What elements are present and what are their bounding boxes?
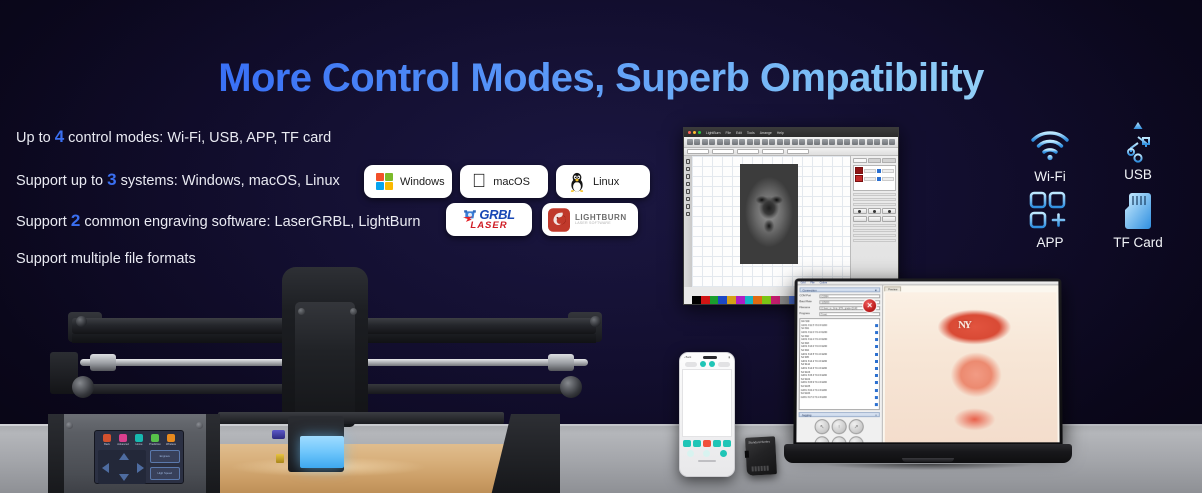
lightburn-toolbar[interactable]	[684, 137, 898, 148]
toolbar-paste-icon[interactable]	[747, 139, 753, 145]
menu-item-tools[interactable]: Tools	[747, 131, 755, 135]
touchscreen-buttons: Engrave High Speed	[150, 450, 180, 484]
phone-back-label[interactable]: ‹ Back	[684, 356, 691, 359]
bullet-text-post: common engraving software: LaserGRBL, Li…	[80, 214, 420, 230]
app-tab-home-icon[interactable]	[687, 450, 694, 457]
software-badge-lasergrbl[interactable]: GRBL LASER	[446, 203, 532, 236]
os-badge-label: Windows	[400, 176, 445, 188]
app-action-button[interactable]	[693, 440, 701, 447]
engraver-head-body	[295, 302, 355, 427]
grbl-logo-icon: GRBL LASER	[463, 209, 514, 230]
connectivity-label: Wi-Fi	[1010, 169, 1090, 184]
jog-down-right-button[interactable]: ↘	[849, 436, 864, 442]
toolbar-zoom-in-icon[interactable]	[762, 139, 768, 145]
touchscreen-controls: Engrave High Speed	[98, 450, 180, 484]
connectivity-usb: USB	[1098, 122, 1178, 182]
bullet-text-post: control modes: Wi-Fi, USB, APP, TF card	[64, 130, 331, 146]
app-action-button[interactable]	[723, 440, 731, 447]
engraver-head-screw	[350, 308, 357, 315]
app-tool-circle-icon[interactable]	[700, 361, 706, 367]
lightburn-canvas[interactable]	[692, 156, 850, 287]
jogging-title: Jogging	[802, 413, 812, 417]
dpad-right-arrow-icon[interactable]	[137, 463, 144, 473]
app-toolbar[interactable]	[682, 361, 732, 367]
toolbar-weld-icon[interactable]	[852, 139, 858, 145]
os-badge-linux[interactable]: Linux	[556, 165, 650, 198]
tf-card-icon	[1122, 191, 1154, 231]
touchscreen-icon-item[interactable]: Advanced	[116, 434, 130, 446]
lasergrbl-laptop: Grbl File Colors Connection ▼ COM Port C…	[784, 278, 1072, 493]
layer-color-swatch[interactable]	[855, 167, 863, 174]
toolbar-redo-icon[interactable]	[724, 139, 730, 145]
toolbar-align-center-icon[interactable]	[807, 139, 813, 145]
toolbar-zoom-out-icon[interactable]	[769, 139, 775, 145]
lightburn-cuts-layers-panel[interactable]	[850, 156, 898, 287]
touchscreen-icon-item[interactable]: Home	[132, 434, 146, 446]
touchscreen-icon-label: Prediction	[148, 443, 162, 446]
toolbar-image-icon[interactable]	[882, 139, 888, 145]
engraver-box-screw	[66, 422, 73, 429]
connection-panel-title: Connection	[803, 288, 817, 292]
jog-home-button[interactable]: ⌂	[832, 436, 847, 442]
lasergrbl-body: Connection ▼ COM Port COM4 Baud Rate 115…	[796, 285, 1059, 442]
frame-button[interactable]	[882, 216, 896, 222]
engraver-touchscreen[interactable]: Back Advanced Home Prediction Wireless	[94, 430, 184, 484]
connectivity-app: APP	[1010, 190, 1090, 250]
engraver-yellow-knob[interactable]	[276, 454, 284, 463]
engraver-head-screw	[298, 308, 305, 315]
touchscreen-icon-item[interactable]: Prediction	[148, 434, 162, 446]
laptop-screen[interactable]: Grbl File Colors Connection ▼ COM Port C…	[796, 281, 1059, 442]
preview-tab-bar[interactable]: Preview	[884, 286, 1057, 291]
toolbar-ungroup-icon[interactable]	[844, 139, 850, 145]
lightburn-body	[684, 156, 898, 287]
touchscreen-icon-label: Back	[100, 443, 114, 446]
toolbar-new-icon[interactable]	[687, 139, 693, 145]
engraver-control-box-side	[48, 414, 64, 493]
toolbar-settings-icon[interactable]	[889, 139, 895, 145]
promo-banner: More Control Modes, Superb Ompatibility …	[0, 0, 1202, 493]
os-badge-macos[interactable]:  macOS	[460, 165, 548, 198]
lightburn-sub: LASER SOFTWARE	[575, 222, 627, 226]
lightburn-coordinate-bar[interactable]	[684, 148, 898, 156]
tool-polygon-icon[interactable]	[686, 189, 691, 194]
width-field[interactable]	[687, 149, 709, 154]
lasergrbl-preview-panel[interactable]: Preview NY	[883, 285, 1060, 442]
os-badge-windows[interactable]: Windows	[364, 165, 452, 198]
layers-table[interactable]	[853, 165, 896, 191]
menu-item-lightburn[interactable]: LightBurn	[706, 131, 721, 135]
engraver-control-box-edge	[206, 414, 220, 493]
dpad-down-arrow-icon[interactable]	[119, 474, 129, 481]
tool-ellipse-icon[interactable]	[686, 182, 691, 187]
usb-icon	[1124, 121, 1152, 165]
toolbar-align-left-icon[interactable]	[799, 139, 805, 145]
upload-rd-file-button[interactable]	[868, 216, 882, 222]
toolbar-grid-icon[interactable]	[792, 139, 798, 145]
jogging-close-icon[interactable]: ×	[875, 413, 877, 417]
job-action-buttons[interactable]	[853, 208, 896, 214]
lightburn-menubar: LightBurn File Edit Tools Arrange Help	[684, 128, 898, 137]
app-canvas[interactable]	[682, 369, 732, 437]
toolbar-undo-icon[interactable]	[717, 139, 723, 145]
connectivity-label: USB	[1098, 167, 1178, 182]
touchscreen-icon-item[interactable]: Wireless	[164, 434, 178, 446]
dpad-up-arrow-icon[interactable]	[119, 453, 129, 460]
laptop-front-notch	[902, 458, 954, 462]
os-badge-label: macOS	[493, 176, 530, 188]
panel-tabs[interactable]	[853, 158, 896, 163]
layer-row[interactable]	[855, 167, 894, 174]
save-rd-file-button[interactable]	[853, 216, 867, 222]
tool-select-icon[interactable]	[686, 159, 691, 164]
toolbar-text-icon[interactable]	[874, 139, 880, 145]
tool-rect-icon[interactable]	[686, 174, 691, 179]
panel-divider	[853, 198, 896, 202]
toolbar-rect-icon[interactable]	[784, 139, 790, 145]
connectivity-tf-card: TF Card	[1098, 190, 1178, 250]
engraver-blue-knob[interactable]	[272, 430, 285, 439]
engraver-laser-light	[300, 436, 344, 468]
menu-item-help[interactable]: Help	[777, 131, 784, 135]
windows-icon	[376, 173, 393, 190]
ypos-field[interactable]	[762, 149, 784, 154]
layer-name-cell	[864, 177, 876, 181]
card-label: Standard Series	[748, 441, 770, 446]
start-button[interactable]	[853, 208, 867, 214]
engraver-bearing-left	[90, 354, 116, 371]
layer-name-cell	[864, 169, 876, 173]
layer-power-cell	[882, 177, 894, 181]
gcode-list[interactable]: M4 S90 G0X1 X11.5 Y0.0 F1200 S4 S91 G0X1…	[799, 318, 880, 410]
toolbar-open-icon[interactable]	[694, 139, 700, 145]
touchscreen-icon-row: Back Advanced Home Prediction Wireless	[98, 434, 180, 446]
menu-item-colors[interactable]: Colors	[820, 281, 827, 284]
jogging-panel: Jogging × ↖ ↑ ↗ ↙ ⌂ ↘	[798, 412, 880, 442]
layer-power-cell	[882, 169, 894, 173]
start-from-row	[853, 224, 896, 228]
tool-text-icon[interactable]	[686, 197, 691, 202]
laser-engraver-machine: Back Advanced Home Prediction Wireless	[50, 264, 620, 493]
lightburn-ram-icon	[548, 208, 570, 232]
card-notch	[745, 451, 749, 458]
jog-up-button[interactable]: ↑	[832, 419, 847, 434]
app-grid-icon	[1029, 191, 1071, 231]
phone-home-indicator	[698, 460, 716, 462]
lasergrbl-connection-panel[interactable]: Connection ▼ COM Port COM4 Baud Rate 115…	[796, 285, 883, 442]
app-stop-button[interactable]	[703, 440, 711, 447]
connection-panel-header: Connection ▼	[800, 287, 881, 292]
app-toggle-switch[interactable]	[718, 362, 730, 367]
bullet-item: Up to 4 control modes: Wi-Fi, USB, APP, …	[16, 128, 331, 146]
tool-offset-icon[interactable]	[686, 204, 691, 209]
engraver-pulley-right	[560, 376, 582, 398]
bullet-text-post: systems: Windows, macOS, Linux	[117, 173, 340, 189]
connectivity-label: APP	[1010, 235, 1090, 250]
app-tab-settings-icon[interactable]	[720, 450, 727, 457]
app-tab-files-icon[interactable]	[703, 450, 710, 457]
laptop-shadow	[790, 464, 1066, 478]
bullet-item: Support 2 common engraving software: Las…	[16, 212, 420, 230]
lightburn-tool-palette[interactable]	[684, 156, 692, 287]
toolbar-align-right-icon[interactable]	[814, 139, 820, 145]
app-tool-pill[interactable]	[685, 362, 697, 367]
window-traffic-lights[interactable]	[688, 131, 701, 134]
laptop-lid: Grbl File Colors Connection ▼ COM Port C…	[793, 278, 1062, 446]
connectivity-wifi: Wi-Fi	[1010, 124, 1090, 184]
xpos-field[interactable]	[737, 149, 759, 154]
bullet-item: Support up to 3 systems: Windows, macOS,…	[16, 171, 340, 189]
menu-item-arrange[interactable]: Arrange	[760, 131, 772, 135]
filename-label: Filename	[799, 306, 817, 309]
engraver-front-rail	[218, 412, 504, 424]
bullet-text-pre: Support up to	[16, 173, 107, 189]
toolbar-copy-icon[interactable]	[739, 139, 745, 145]
baseball-player-artwork[interactable]: NY	[885, 292, 1058, 442]
jog-button-pad[interactable]: ↖ ↑ ↗ ↙ ⌂ ↘	[812, 419, 866, 442]
bullet-highlight-number: 4	[55, 127, 64, 146]
panel-divider	[853, 193, 896, 197]
touchscreen-icon-label: Wireless	[164, 443, 178, 446]
toolbar-save-icon[interactable]	[702, 139, 708, 145]
wifi-icon	[1029, 129, 1071, 161]
menu-item-grbl[interactable]: Grbl	[801, 281, 806, 284]
bullet-highlight-number: 2	[71, 211, 80, 230]
tab-move[interactable]	[868, 158, 882, 163]
status-ready-row	[853, 239, 896, 243]
touchscreen-icon-label: Advanced	[116, 443, 130, 446]
engraver-screw	[590, 316, 601, 327]
connectivity-label: TF Card	[1098, 235, 1178, 250]
software-badge-lightburn[interactable]: LIGHTBURN LASER SOFTWARE	[542, 203, 638, 236]
preview-tab[interactable]: Preview	[884, 286, 901, 291]
optimize-cut-path-row	[853, 229, 896, 233]
jog-up-right-button[interactable]: ↗	[849, 419, 864, 434]
tool-pen-icon[interactable]	[686, 167, 691, 172]
menu-item-edit[interactable]: Edit	[736, 131, 742, 135]
app-action-row[interactable]	[682, 440, 732, 447]
phone-battery-icon: ▮	[729, 356, 730, 359]
toolbar-flip-v-icon[interactable]	[829, 139, 835, 145]
tab-cuts-layers[interactable]	[853, 158, 867, 163]
smartphone-app[interactable]: ‹ Back ▮	[679, 352, 735, 477]
layer-color-swatch[interactable]	[855, 175, 863, 182]
bullet-text-pre: Support	[16, 214, 71, 230]
engraver-box-screw	[196, 422, 203, 429]
engraver-bed-highlight	[218, 456, 508, 478]
panel-divider	[853, 203, 896, 207]
app-tab-bar[interactable]	[682, 450, 732, 457]
bullet-highlight-number: 3	[107, 170, 116, 189]
touchscreen-engrave-button[interactable]: Engrave	[150, 450, 180, 463]
engraver-pulley-left	[72, 376, 94, 398]
engraver-bearing-right	[548, 354, 574, 371]
app-tool-circle-icon[interactable]	[709, 361, 715, 367]
units-field[interactable]	[787, 149, 809, 154]
toolbar-boolean-icon[interactable]	[859, 139, 865, 145]
toolbar-node-edit-icon[interactable]	[867, 139, 873, 145]
toolbar-delete-icon[interactable]	[754, 139, 760, 145]
app-action-button[interactable]	[713, 440, 721, 447]
tool-node-icon[interactable]	[686, 212, 691, 217]
menu-item-file[interactable]: File	[810, 281, 814, 284]
jog-down-left-button[interactable]: ↙	[814, 436, 829, 442]
os-badge-label: Linux	[593, 176, 619, 188]
panel-pin-icon[interactable]: ▼	[874, 288, 877, 292]
grbl-sub: LASER	[470, 221, 507, 230]
file-action-buttons[interactable]	[853, 216, 896, 222]
card-contacts	[752, 466, 769, 472]
toolbar-flip-h-icon[interactable]	[822, 139, 828, 145]
engraver-screw	[76, 316, 87, 327]
tab-library[interactable]	[882, 158, 896, 163]
microsd-card: Standard Series	[745, 436, 777, 476]
touchscreen-dpad[interactable]	[98, 450, 146, 484]
gcode-line	[801, 403, 878, 407]
phone-status-bar: ‹ Back ▮	[682, 356, 732, 359]
lightburn-wordmark: LIGHTBURN LASER SOFTWARE	[575, 214, 627, 226]
progress-label: Progress	[799, 312, 817, 315]
height-field[interactable]	[712, 149, 734, 154]
jog-up-left-button[interactable]: ↖	[815, 419, 830, 434]
touchscreen-icon-label: Home	[132, 443, 146, 446]
menu-item-file[interactable]: File	[726, 131, 731, 135]
phone-dynamic-island	[703, 356, 717, 359]
layer-speed-cell	[877, 177, 881, 181]
toolbar-cut-icon[interactable]	[732, 139, 738, 145]
touchscreen-icon-item[interactable]: Back	[100, 434, 114, 446]
touchscreen-highspeed-button[interactable]: High Speed	[150, 467, 180, 480]
app-action-button[interactable]	[683, 440, 691, 447]
toolbar-zoom-fit-icon[interactable]	[777, 139, 783, 145]
layer-speed-cell	[877, 169, 881, 173]
pause-button[interactable]	[868, 208, 882, 214]
lion-artwork[interactable]	[740, 164, 798, 264]
cap-logo-text: NY	[958, 319, 970, 331]
com-port-label: COM Port	[799, 295, 817, 298]
layer-row[interactable]	[855, 175, 894, 182]
toolbar-print-icon[interactable]	[709, 139, 715, 145]
device-row	[853, 234, 896, 238]
apple-icon: 	[472, 172, 486, 191]
toolbar-group-icon[interactable]	[837, 139, 843, 145]
page-title: More Control Modes, Superb Ompatibility	[0, 56, 1202, 101]
disconnect-button[interactable]: ×	[862, 298, 877, 313]
bullet-text-pre: Up to	[16, 130, 55, 146]
baud-rate-label: Baud Rate	[799, 301, 817, 304]
jogging-panel-header: Jogging ×	[799, 412, 880, 417]
dpad-left-arrow-icon[interactable]	[102, 463, 109, 473]
tux-icon	[568, 172, 586, 192]
stop-button[interactable]	[882, 208, 896, 214]
